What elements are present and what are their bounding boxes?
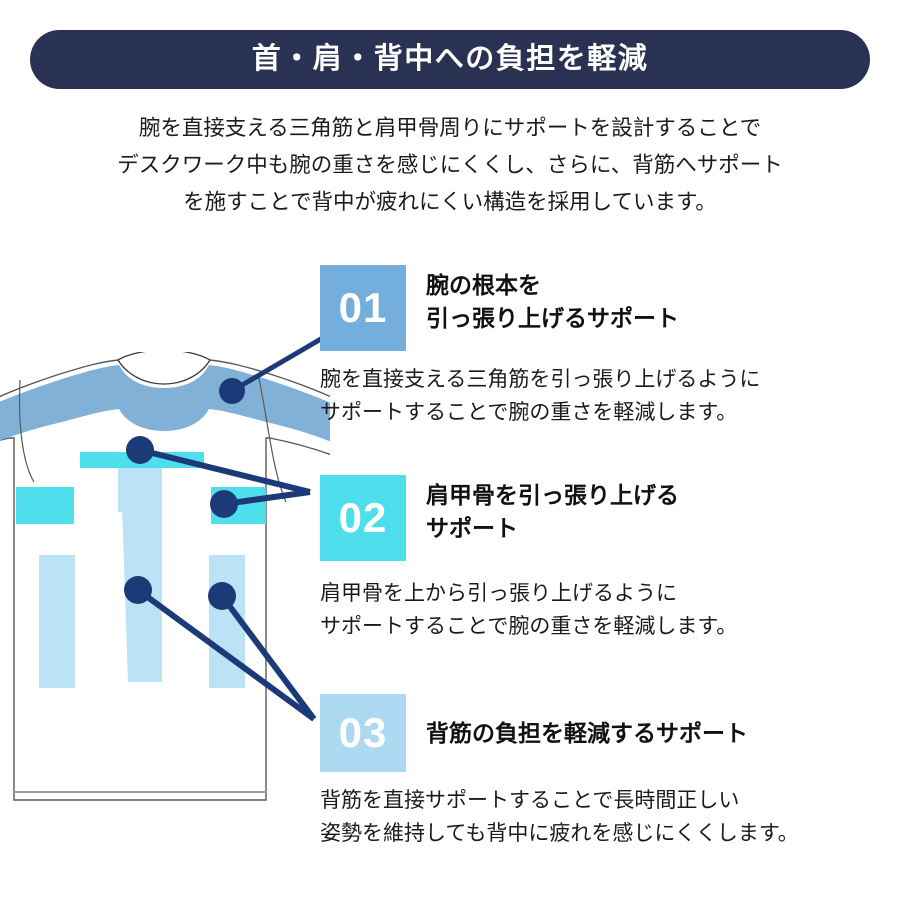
feature-body-03-line2: 姿勢を維持しても背中に疲れを感じにくくします。	[320, 817, 799, 850]
header-banner: 首・肩・背中への負担を軽減	[30, 30, 870, 89]
feature-body-01: 腕を直接支える三角筋を引っ張り上げるように サポートすることで腕の重さを軽減しま…	[320, 363, 760, 429]
page-title: 首・肩・背中への負担を軽減	[252, 45, 649, 74]
feature-title-02: 肩甲骨を引っ張り上げる サポート	[426, 475, 679, 545]
feature-head-01: 01 腕の根本を 引っ張り上げるサポート	[320, 265, 760, 351]
feature-body-02: 肩甲骨を上から引っ張り上げるように サポートすることで腕の重さを軽減します。	[320, 577, 737, 643]
back-support-strip-right	[209, 555, 245, 688]
feature-head-03: 03 背筋の負担を軽減するサポート	[320, 694, 799, 772]
feature-title-03: 背筋の負担を軽減するサポート	[426, 717, 748, 750]
scapula-support-left	[16, 487, 74, 524]
feature-body-03-line1: 背筋を直接サポートすることで長時間正しい	[320, 784, 799, 817]
feature-block-02: 02 肩甲骨を引っ張り上げる サポート 肩甲骨を上から引っ張り上げるように サポ…	[320, 475, 737, 643]
tshirt-illustration	[0, 352, 330, 812]
intro-line-3: を施すことで背中が疲れにくい構造を採用しています。	[0, 184, 900, 221]
feature-block-01: 01 腕の根本を 引っ張り上げるサポート 腕を直接支える三角筋を引っ張り上げるよ…	[320, 265, 760, 429]
feature-body-03: 背筋を直接サポートすることで長時間正しい 姿勢を維持しても背中に疲れを感じにくく…	[320, 784, 799, 850]
tshirt-svg	[0, 352, 330, 812]
feature-head-02: 02 肩甲骨を引っ張り上げる サポート	[320, 475, 737, 561]
badge-number-03: 03	[320, 694, 406, 772]
intro-line-1: 腕を直接支える三角筋と肩甲骨周りにサポートを設計することで	[0, 110, 900, 147]
feature-title-03-line1: 背筋の負担を軽減するサポート	[426, 717, 748, 750]
feature-title-01: 腕の根本を 引っ張り上げるサポート	[426, 265, 679, 335]
intro-paragraph: 腕を直接支える三角筋と肩甲骨周りにサポートを設計することで デスクワーク中も腕の…	[0, 110, 900, 221]
feature-body-01-line1: 腕を直接支える三角筋を引っ張り上げるように	[320, 363, 760, 396]
feature-title-02-line2: サポート	[426, 512, 679, 545]
feature-title-01-line2: 引っ張り上げるサポート	[426, 302, 679, 335]
scapula-support-right	[211, 487, 269, 524]
feature-block-03: 03 背筋の負担を軽減するサポート 背筋を直接サポートすることで長時間正しい 姿…	[320, 694, 799, 850]
intro-line-2: デスクワーク中も腕の重さを感じにくくし、さらに、背筋へサポート	[0, 147, 900, 184]
feature-title-02-line1: 肩甲骨を引っ張り上げる	[426, 479, 679, 512]
back-support-strip-left	[39, 555, 75, 688]
feature-title-01-line1: 腕の根本を	[426, 269, 679, 302]
feature-body-01-line2: サポートすることで腕の重さを軽減します。	[320, 396, 760, 429]
feature-body-02-line2: サポートすることで腕の重さを軽減します。	[320, 610, 737, 643]
badge-number-01: 01	[320, 265, 406, 351]
badge-number-02: 02	[320, 475, 406, 561]
feature-body-02-line1: 肩甲骨を上から引っ張り上げるように	[320, 577, 737, 610]
infographic-page: 首・肩・背中への負担を軽減 腕を直接支える三角筋と肩甲骨周りにサポートを設計する…	[0, 0, 900, 900]
